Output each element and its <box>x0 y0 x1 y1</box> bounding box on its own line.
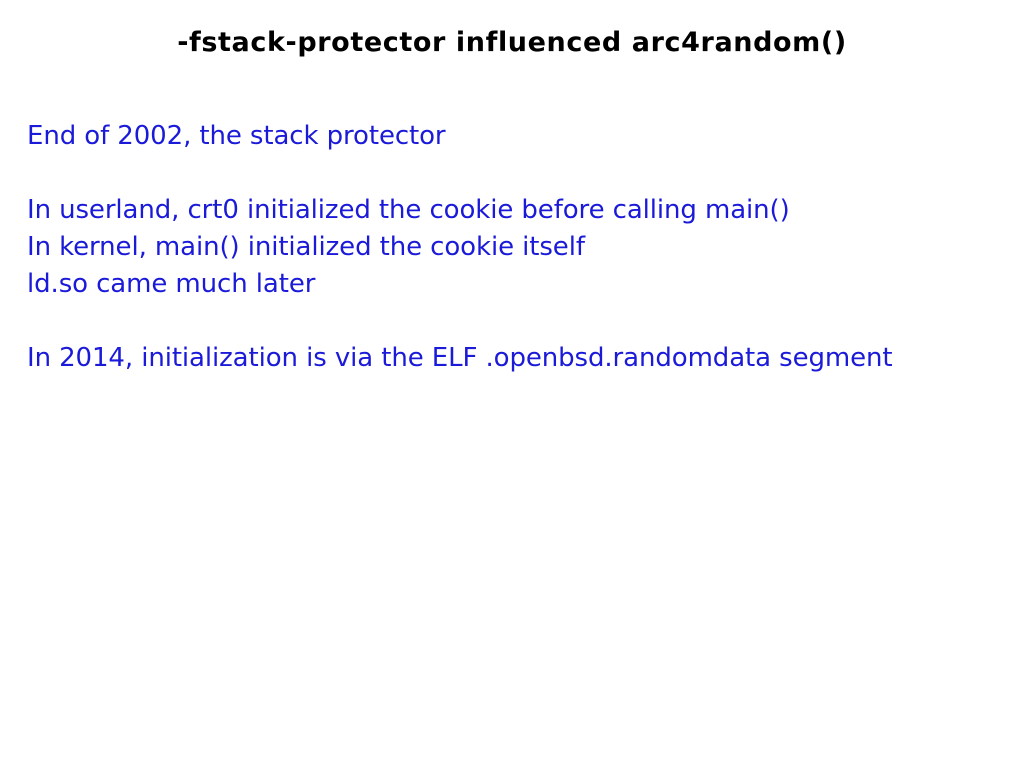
body-line: In userland, crt0 initialized the cookie… <box>27 192 987 229</box>
body-line: In 2014, initialization is via the ELF .… <box>27 340 987 377</box>
body-line: ld.so came much later <box>27 266 987 303</box>
body-line: End of 2002, the stack protector <box>27 118 987 155</box>
presentation-slide: -fstack-protector influenced arc4random(… <box>0 0 1024 768</box>
body-line-blank <box>27 155 987 192</box>
slide-title: -fstack-protector influenced arc4random(… <box>0 26 1024 60</box>
slide-body-text: End of 2002, the stack protector In user… <box>27 118 987 377</box>
body-line: In kernel, main() initialized the cookie… <box>27 229 987 266</box>
body-line-blank <box>27 303 987 340</box>
